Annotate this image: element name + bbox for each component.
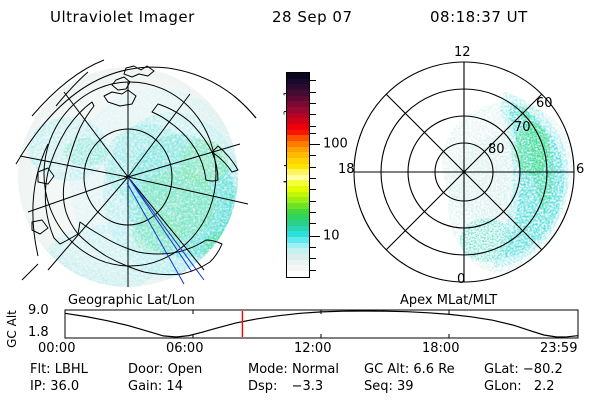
colorbar-band-35	[287, 271, 309, 277]
status-mode-label: Mode:	[248, 362, 288, 377]
status-gc-alt-label: GC Alt:	[364, 362, 409, 377]
mlt-label-6: 6	[576, 162, 584, 177]
geographic-map-panel[interactable]	[8, 44, 264, 292]
mlt-dial-svg	[336, 44, 592, 292]
status-ip: IP: 36.0	[30, 379, 79, 394]
chart-frame	[65, 310, 578, 338]
colorbar-minor-tick-12	[310, 223, 316, 224]
x-tick-0600: 06:00	[166, 341, 203, 356]
status-glon-label: GLon:	[484, 379, 522, 394]
x-tick-2359: 23:59	[540, 341, 577, 356]
status-dsp-value: −3.3	[292, 379, 324, 394]
status-glon: GLon: 2.2	[484, 379, 555, 394]
colorbar-minor-tick-6	[310, 155, 316, 156]
mlt-label-12: 12	[454, 45, 471, 60]
colorbar-major-tick-100	[310, 144, 320, 145]
status-glat-label: GLat:	[484, 362, 519, 377]
colorbar-minor-tick-10	[310, 201, 316, 202]
status-gc-alt: GC Alt: 6.6 Re	[364, 362, 455, 377]
status-flt: Flt: LBHL	[30, 362, 88, 377]
auroral-emission-layer	[18, 67, 247, 292]
status-glat-value: −80.2	[523, 362, 563, 377]
mlat-ring-label-60: 60	[536, 96, 553, 111]
mlt-auroral-emission	[442, 92, 574, 274]
status-mode-value: Normal	[292, 362, 339, 377]
colorbar-minor-tick-11	[310, 212, 316, 213]
colorbar-minor-tick-14	[310, 258, 316, 259]
status-door-label: Door:	[128, 362, 163, 377]
status-mode: Mode: Normal	[248, 362, 339, 377]
mlat-ring-label-70: 70	[514, 120, 531, 135]
colorbar-gradient	[286, 72, 310, 278]
status-ip-label: IP:	[30, 379, 46, 394]
status-seq-value: 39	[397, 379, 414, 394]
colorbar-minor-tick-3	[310, 114, 316, 115]
colorbar-minor-tick-2	[310, 103, 316, 104]
status-flt-value: LBHL	[55, 362, 88, 377]
mlat-ring-label-80: 80	[488, 142, 505, 157]
status-door-value: Open	[168, 362, 203, 377]
x-tick-0000: 00:00	[38, 341, 75, 356]
status-gc-alt-value: 6.6 Re	[413, 362, 454, 377]
status-dsp-label: Dsp:	[248, 379, 277, 394]
geographic-map-svg	[8, 44, 264, 292]
colorbar-minor-tick-7	[310, 167, 316, 168]
colorbar-minor-tick-8	[310, 178, 316, 179]
status-gain-label: Gain:	[128, 379, 162, 394]
status-gain: Gain: 14	[128, 379, 183, 394]
colorbar-minor-tick-4	[310, 126, 316, 127]
status-door: Door: Open	[128, 362, 202, 377]
colorbar-minor-tick-5	[310, 133, 316, 134]
colorbar-minor-tick-13	[310, 247, 316, 248]
instrument-title: Ultraviolet Imager	[50, 8, 195, 26]
colorbar-minor-tick-15	[310, 270, 316, 271]
status-dsp: Dsp: −3.3	[248, 379, 323, 394]
x-tick-1200: 12:00	[294, 341, 331, 356]
mlt-grid	[354, 62, 574, 282]
observation-time: 08:18:37 UT	[430, 8, 528, 26]
observation-date: 28 Sep 07	[272, 8, 352, 26]
status-ip-value: 36.0	[50, 379, 79, 394]
status-glat: GLat: −80.2	[484, 362, 563, 377]
mlt-label-0: 0	[457, 272, 465, 287]
status-gain-value: 14	[166, 379, 183, 394]
status-bar: Flt: LBHL Door: Open Mode: Normal GC Alt…	[0, 362, 600, 400]
mlt-dial-panel[interactable]: 12 18 0 6 60 70 80	[336, 44, 592, 292]
mlt-label-18: 18	[338, 162, 355, 177]
x-tick-1800: 18:00	[422, 341, 459, 356]
status-seq-label: Seq:	[364, 379, 393, 394]
colorbar-minor-tick-0	[310, 80, 316, 81]
status-glon-value: 2.2	[534, 379, 555, 394]
colorbar-minor-tick-1	[310, 92, 316, 93]
status-flt-label: Flt:	[30, 362, 51, 377]
colorbar-major-tick-10	[310, 236, 320, 237]
colorbar-minor-tick-9	[310, 189, 316, 190]
status-seq: Seq: 39	[364, 379, 414, 394]
